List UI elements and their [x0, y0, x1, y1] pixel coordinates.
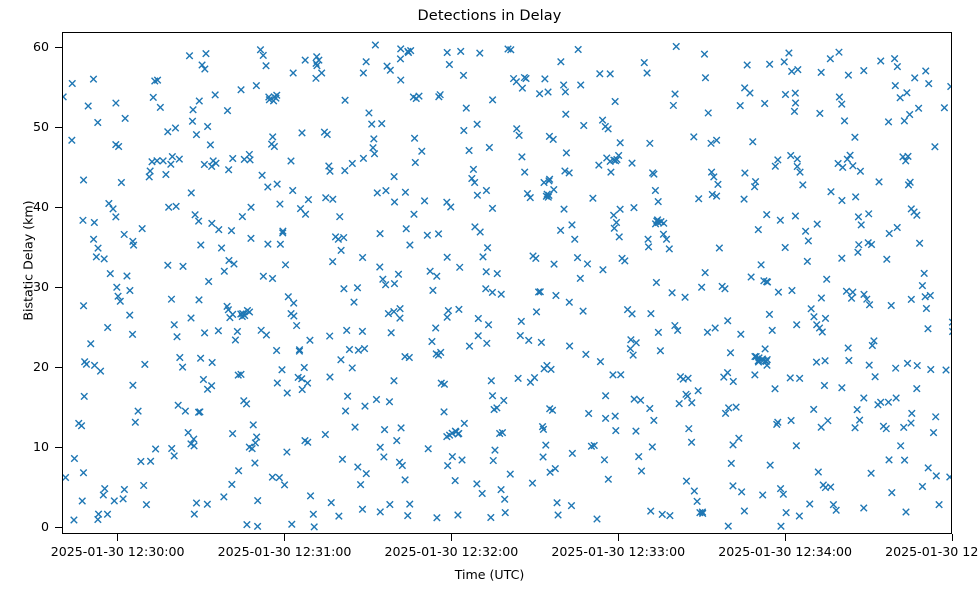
scatter-marker: [359, 328, 366, 335]
scatter-marker: [177, 354, 184, 361]
scatter-marker: [189, 118, 195, 125]
scatter-marker: [200, 376, 207, 383]
x-tick-mark: [618, 534, 619, 541]
scatter-marker: [277, 241, 284, 248]
scatter-marker: [87, 340, 94, 347]
scatter-marker: [373, 396, 380, 403]
scatter-marker: [355, 347, 362, 354]
scatter-marker: [617, 371, 624, 378]
scatter-marker: [207, 142, 214, 149]
scatter-marker: [305, 196, 312, 203]
scatter-marker: [386, 399, 393, 406]
scatter-marker: [215, 327, 222, 334]
scatter-marker: [818, 295, 825, 302]
scatter-marker: [135, 408, 142, 415]
scatter-marker: [684, 393, 691, 400]
scatter-marker: [788, 417, 795, 424]
scatter-marker: [246, 151, 253, 158]
scatter-marker: [936, 501, 943, 508]
scatter-marker: [475, 315, 482, 322]
scatter-marker: [349, 365, 356, 372]
scatter-marker: [844, 156, 851, 163]
scatter-marker: [721, 374, 728, 381]
scatter-marker: [359, 506, 366, 512]
scatter-marker: [78, 423, 85, 430]
scatter-marker: [253, 82, 259, 89]
scatter-marker: [666, 246, 673, 253]
scatter-marker: [416, 93, 423, 100]
scatter-marker: [617, 140, 624, 147]
x-tick-mark: [451, 534, 452, 541]
scatter-marker: [160, 158, 167, 165]
scatter-marker: [475, 333, 482, 340]
scatter-marker: [836, 94, 843, 101]
scatter-marker: [489, 392, 496, 399]
scatter-marker: [617, 206, 624, 213]
scatter-marker: [657, 348, 664, 355]
scatter-marker: [772, 163, 779, 170]
scatter-marker: [787, 375, 794, 382]
scatter-marker: [892, 82, 899, 89]
scatter-marker: [63, 94, 66, 101]
scatter-marker: [277, 201, 284, 208]
scatter-marker: [305, 439, 312, 446]
scatter-marker: [346, 346, 353, 353]
scatter-marker: [163, 171, 170, 178]
scatter-marker: [143, 501, 150, 508]
scatter-marker: [402, 353, 409, 360]
scatter-marker: [704, 329, 711, 336]
scatter-marker: [775, 289, 782, 296]
scatter-marker: [150, 94, 157, 101]
matplotlib-figure: Detections in Delay Bistatic Delay (km) …: [0, 0, 979, 590]
scatter-marker: [378, 120, 385, 127]
scatter-marker: [653, 279, 660, 286]
scatter-marker: [821, 382, 828, 389]
scatter-marker: [502, 509, 509, 515]
scatter-marker: [444, 254, 451, 261]
scatter-marker: [318, 70, 325, 77]
scatter-marker: [525, 337, 532, 344]
scatter-marker: [848, 295, 855, 302]
scatter-marker: [463, 105, 470, 112]
scatter-marker: [839, 164, 846, 171]
scatter-marker: [398, 425, 405, 432]
scatter-marker: [343, 327, 350, 334]
scatter-marker: [338, 247, 345, 254]
scatter-marker: [91, 362, 98, 369]
scatter-marker: [925, 326, 932, 333]
scatter-marker: [171, 453, 178, 460]
scatter-marker: [113, 100, 120, 107]
scatter-marker: [291, 313, 298, 320]
scatter-marker: [430, 287, 437, 294]
scatter-marker: [397, 305, 404, 312]
scatter-marker: [81, 393, 88, 400]
scatter-marker: [540, 454, 547, 461]
scatter-marker: [907, 179, 914, 186]
scatter-marker: [817, 110, 824, 117]
scatter-marker: [483, 286, 490, 293]
scatter-marker: [577, 82, 584, 89]
scatter-marker: [852, 134, 859, 141]
scatter-marker: [501, 397, 508, 404]
scatter-marker: [179, 364, 186, 371]
scatter-marker: [216, 226, 223, 233]
scatter-marker: [265, 241, 272, 248]
scatter-marker: [507, 471, 514, 478]
scatter-marker: [813, 359, 820, 366]
scatter-marker: [71, 517, 78, 524]
scatter-marker: [301, 364, 308, 371]
scatter-marker: [253, 434, 260, 441]
scatter-marker: [492, 447, 499, 454]
scatter-marker: [239, 213, 246, 220]
scatter-marker: [822, 357, 829, 364]
scatter-marker: [569, 222, 576, 229]
scatter-marker: [915, 105, 922, 112]
scatter-marker: [488, 377, 495, 384]
scatter-marker: [769, 327, 776, 334]
scatter-marker: [775, 157, 782, 164]
scatter-marker: [715, 181, 722, 188]
scatter-marker: [513, 79, 520, 86]
scatter-marker: [682, 294, 689, 301]
scatter-marker: [825, 417, 832, 424]
scatter-marker: [80, 302, 87, 309]
scatter-marker: [811, 314, 818, 321]
scatter-marker: [111, 498, 118, 505]
scatter-marker: [196, 297, 203, 304]
scatter-marker: [91, 219, 97, 226]
scatter-marker: [276, 474, 283, 481]
scatter-marker: [659, 511, 666, 517]
scatter-marker: [827, 55, 834, 62]
scatter-marker: [335, 236, 342, 243]
scatter-marker: [488, 514, 495, 521]
scatter-marker: [637, 397, 644, 404]
scatter-marker: [884, 256, 891, 263]
scatter-marker: [766, 311, 773, 318]
scatter-marker: [921, 270, 928, 277]
scatter-marker: [391, 280, 398, 287]
scatter-marker: [583, 351, 590, 358]
scatter-marker: [258, 327, 265, 334]
scatter-marker: [316, 57, 323, 64]
scatter-marker: [908, 420, 915, 427]
y-tick-mark: [55, 287, 62, 288]
scatter-marker: [600, 266, 607, 273]
scatter-marker: [886, 230, 893, 237]
scatter-marker: [602, 415, 609, 422]
plot-area: [62, 32, 952, 534]
scatter-marker: [429, 338, 436, 345]
scatter-marker: [304, 380, 311, 387]
scatter-marker: [391, 308, 398, 315]
scatter-marker: [100, 492, 107, 499]
scatter-marker: [694, 498, 701, 505]
scatter-marker: [691, 134, 698, 141]
scatter-marker: [168, 161, 175, 168]
scatter-marker: [483, 187, 490, 194]
scatter-marker: [107, 270, 114, 277]
scatter-marker: [397, 46, 404, 52]
scatter-marker: [647, 405, 654, 412]
scatter-marker: [796, 513, 803, 520]
scatter-marker: [533, 255, 540, 262]
scatter-marker: [498, 291, 505, 298]
scatter-marker: [861, 67, 868, 74]
scatter-marker: [399, 462, 406, 469]
scatter-marker: [371, 150, 378, 157]
scatter-marker: [627, 345, 634, 352]
scatter-marker: [672, 91, 679, 98]
scatter-marker: [566, 343, 573, 350]
scatter-marker: [265, 184, 272, 191]
scatter-marker: [101, 256, 108, 263]
scatter-marker: [839, 255, 846, 262]
x-axis-label: Time (UTC): [0, 567, 979, 582]
scatter-marker: [249, 445, 256, 452]
scatter-marker: [782, 91, 789, 98]
scatter-marker: [427, 268, 434, 275]
scatter-marker: [269, 275, 276, 282]
scatter-marker: [341, 286, 348, 293]
scatter-marker: [168, 445, 175, 452]
scatter-marker: [269, 134, 276, 141]
scatter-marker: [80, 217, 87, 224]
scatter-marker: [536, 91, 543, 98]
scatter-marker: [397, 77, 404, 84]
scatter-marker: [904, 360, 911, 367]
scatter-marker: [542, 76, 549, 83]
scatter-marker: [313, 54, 320, 61]
scatter-marker: [519, 85, 526, 92]
scatter-marker: [758, 262, 765, 269]
scatter-marker: [800, 182, 807, 189]
scatter-marker: [388, 330, 395, 337]
scatter-marker: [552, 465, 559, 472]
scatter-marker: [519, 154, 526, 161]
scatter-marker: [856, 417, 863, 424]
scatter-marker: [792, 100, 799, 107]
scatter-marker: [854, 406, 861, 413]
scatter-marker: [147, 168, 154, 175]
scatter-marker: [114, 284, 121, 291]
scatter-marker: [205, 278, 212, 285]
scatter-marker: [157, 104, 164, 111]
scatter-marker: [130, 382, 137, 389]
scatter-marker: [113, 141, 120, 148]
scatter-marker: [459, 457, 466, 464]
scatter-marker: [789, 287, 796, 294]
scatter-marker: [81, 359, 88, 366]
scatter-marker: [808, 306, 815, 313]
scatter-marker: [804, 258, 811, 265]
scatter-marker: [501, 496, 508, 503]
scatter-marker: [185, 429, 192, 436]
scatter-marker: [121, 486, 128, 493]
scatter-marker: [655, 198, 662, 205]
scatter-marker: [127, 287, 133, 294]
scatter-marker: [919, 282, 926, 289]
scatter-marker: [909, 410, 916, 417]
scatter-marker: [212, 92, 219, 99]
y-tick-label: 20: [0, 359, 49, 374]
scatter-marker: [456, 264, 463, 271]
scatter-marker: [667, 512, 674, 519]
scatter-marker: [767, 462, 774, 469]
scatter-marker: [590, 195, 597, 202]
scatter-marker: [368, 121, 375, 128]
scatter-marker: [138, 458, 145, 465]
scatter-marker: [941, 104, 948, 111]
scatter-marker: [69, 80, 76, 87]
scatter-marker: [897, 94, 904, 100]
scatter-marker: [533, 309, 540, 316]
scatter-marker: [737, 102, 744, 109]
scatter-marker: [630, 352, 637, 359]
scatter-marker: [363, 470, 370, 477]
scatter-marker: [372, 42, 379, 49]
scatter-marker: [461, 127, 468, 134]
scatter-marker: [486, 144, 493, 151]
scatter-marker: [434, 273, 441, 280]
scatter-marker: [922, 68, 929, 75]
scatter-marker: [489, 97, 496, 104]
scatter-marker: [814, 221, 821, 228]
scatter-marker: [846, 357, 853, 364]
scatter-marker: [911, 75, 918, 82]
scatter-marker: [601, 457, 608, 464]
scatter-marker: [411, 211, 418, 218]
scatter-marker: [612, 98, 619, 105]
scatter-marker: [474, 481, 481, 488]
scatter-marker: [285, 294, 292, 301]
scatter-marker: [370, 145, 377, 152]
scatter-marker: [923, 305, 930, 312]
scatter-marker: [577, 275, 584, 282]
scatter-marker: [362, 403, 369, 410]
scatter-marker: [751, 183, 758, 190]
scatter-marker: [302, 211, 309, 218]
scatter-marker: [572, 236, 579, 243]
scatter-marker: [494, 405, 501, 412]
scatter-marker: [307, 493, 314, 500]
scatter-marker: [647, 508, 654, 515]
scatter-marker: [311, 524, 318, 531]
scatter-marker: [444, 314, 451, 321]
scatter-marker: [538, 339, 545, 346]
scatter-marker: [407, 242, 414, 249]
scatter-marker: [351, 299, 358, 306]
scatter-marker: [224, 107, 231, 114]
scatter-marker: [407, 501, 414, 508]
scatter-marker: [489, 205, 496, 212]
scatter-marker: [191, 443, 198, 450]
scatter-marker: [752, 372, 759, 379]
scatter-marker: [724, 318, 731, 325]
scatter-marker: [930, 429, 937, 436]
scatter-marker: [342, 167, 349, 174]
scatter-marker: [474, 192, 481, 199]
scatter-marker: [174, 334, 181, 341]
scatter-marker: [419, 148, 426, 155]
scatter-marker: [541, 179, 548, 186]
scatter-marker: [384, 63, 391, 69]
scatter-marker: [104, 324, 111, 331]
scatter-marker: [925, 80, 932, 87]
scatter-marker: [444, 462, 451, 469]
scatter-marker: [191, 511, 198, 517]
scatter-marker: [688, 439, 695, 446]
scatter-marker: [254, 523, 261, 530]
scatter-marker: [736, 435, 743, 442]
scatter-marker: [90, 236, 97, 243]
scatter-marker: [374, 190, 381, 197]
scatter-marker: [203, 50, 210, 57]
scatter-marker: [635, 453, 642, 460]
scatter-marker: [263, 63, 270, 69]
scatter-marker: [342, 408, 349, 415]
x-tick-label: 2025-01-30 12:35:00: [822, 544, 979, 559]
scatter-marker: [744, 62, 751, 68]
scatter-marker: [79, 498, 86, 505]
scatter-marker: [204, 123, 211, 130]
scatter-marker: [424, 232, 431, 239]
scatter-marker: [852, 425, 859, 432]
scatter-marker: [171, 322, 178, 329]
scatter-marker: [847, 152, 854, 159]
scatter-marker: [695, 196, 702, 203]
scatter-marker: [434, 515, 441, 522]
scatter-marker: [192, 212, 199, 219]
scatter-marker: [855, 214, 862, 221]
scatter-marker: [110, 206, 117, 213]
scatter-marker: [802, 228, 809, 235]
scatter-marker: [328, 499, 335, 506]
scatter-marker: [279, 366, 286, 373]
scatter-marker: [381, 454, 388, 461]
scatter-marker: [446, 61, 453, 68]
scatter-marker: [839, 197, 846, 204]
scatter-marker: [787, 152, 794, 159]
scatter-marker: [806, 501, 813, 508]
scatter-marker: [845, 72, 852, 79]
scatter-marker: [892, 365, 899, 372]
scatter-marker: [387, 501, 394, 508]
scatter-marker: [876, 179, 883, 186]
scatter-marker: [574, 254, 581, 261]
scatter-marker: [644, 70, 651, 77]
scatter-marker: [777, 217, 784, 224]
scatter-marker: [524, 190, 531, 197]
scatter-marker: [106, 200, 113, 207]
scatter-marker: [529, 480, 536, 487]
scatter-marker: [845, 345, 852, 352]
scatter-marker: [772, 385, 779, 392]
scatter-marker: [948, 83, 952, 90]
scatter-marker: [299, 386, 306, 393]
scatter-marker: [676, 400, 683, 407]
scatter-marker: [250, 422, 257, 429]
scatter-marker: [338, 356, 345, 363]
scatter-marker: [104, 511, 111, 518]
scatter-marker: [868, 470, 875, 477]
scatter-marker: [284, 449, 291, 456]
scatter-marker: [412, 159, 419, 166]
scatter-marker: [702, 75, 709, 82]
